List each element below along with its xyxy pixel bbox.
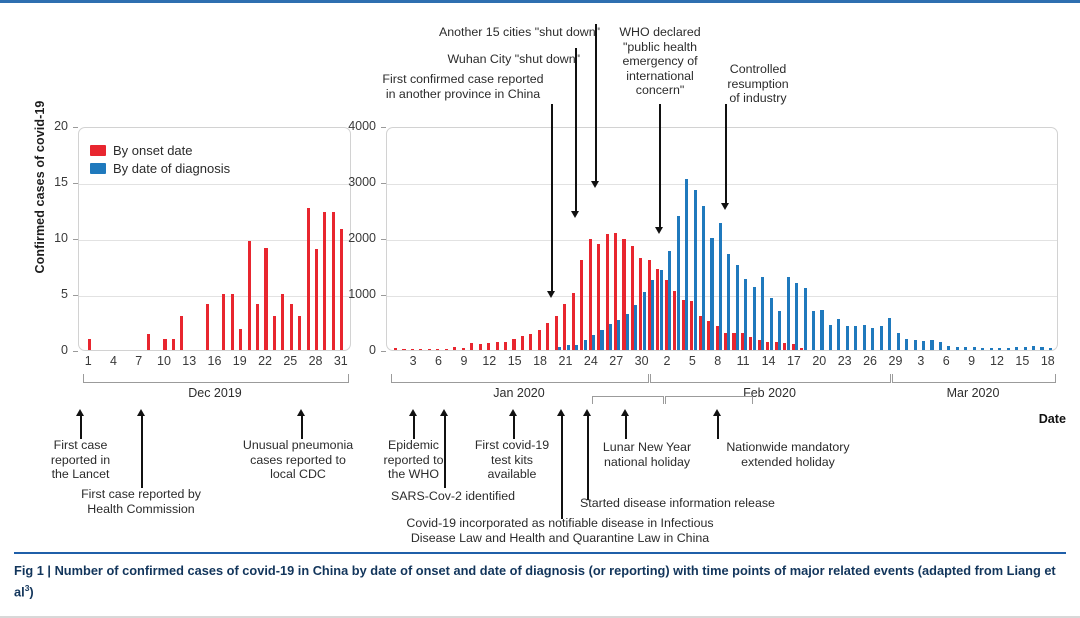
x-tick-label: 9 [959,354,985,368]
bar [163,339,166,350]
bar [922,341,925,350]
bracket-feb-2020 [650,374,891,383]
x-tick-label: 18 [1035,354,1061,368]
y-tick-label: 2000 [316,231,376,245]
bar [1024,347,1027,350]
x-tick-label: 16 [202,354,228,368]
legend-label-diagnosis: By date of diagnosis [113,161,230,176]
bar [1032,346,1035,350]
bar [1007,348,1010,350]
bar [930,340,933,350]
anno-first-test-kits: First covid-19 test kits available [462,438,562,482]
y-tick-label: 0 [8,343,68,357]
bar [880,326,883,350]
bar [854,326,857,350]
anno-15-cities-shutdown: Another 15 cities "shut down" [352,25,600,40]
bar [973,347,976,350]
bar [1049,348,1052,350]
x-tick-label: 25 [277,354,303,368]
bar [572,293,575,350]
legend-label-onset: By onset date [113,143,193,158]
bar [546,323,549,350]
x-tick-label: 4 [100,354,126,368]
bar [567,345,570,350]
bar [736,265,739,350]
bar [592,335,595,350]
anno-line: emergency of [604,54,716,69]
x-tick-label: 6 [933,354,959,368]
anno-line: First case reported by [60,487,222,502]
bar [584,340,587,350]
x-tick-label: 10 [151,354,177,368]
bar [172,339,175,350]
caption-prefix: Fig 1 | [14,563,55,578]
anno-wuhan-shutdown: Wuhan City "shut down" [352,52,580,67]
anno-line: the Lancet [28,467,133,482]
bar [428,349,431,351]
bar [753,287,756,350]
bar [956,347,959,350]
anno-unusual-pneumonia-cdc: Unusual pneumonia cases reported to loca… [218,438,378,482]
bar [273,316,276,350]
x-tick-label: 20 [806,354,832,368]
caption-divider [14,552,1066,554]
bar [770,298,773,350]
bar [462,348,465,350]
bar [239,329,242,350]
bar [600,330,603,350]
jan-mar-2020-plot-panel [386,127,1058,351]
anno-line: First confirmed case reported [352,72,574,87]
x-tick-label: 9 [451,354,477,368]
bar [394,348,397,350]
anno-epidemic-reported-who: Epidemic reported to the WHO [366,438,461,482]
x-tick-label: 27 [603,354,629,368]
bar [905,339,908,350]
bar [470,343,473,350]
bar [939,342,942,350]
legend-swatch-diagnosis [90,163,106,174]
bar [888,318,891,350]
anno-line: Health Commission [60,502,222,517]
bar [812,311,815,350]
bar [837,319,840,350]
y-tick-mark [73,127,78,128]
anno-line: Lunar New Year [588,440,706,455]
bar [710,238,713,350]
anno-line: Covid-19 incorporated as notifiable dise… [300,516,820,531]
y-tick-mark [381,351,386,352]
x-tick-label: 5 [679,354,705,368]
x-tick-label: 14 [756,354,782,368]
bar [88,339,91,350]
bar [998,348,1001,350]
bar [685,179,688,350]
y-tick-label: 0 [316,343,376,357]
legend: By onset date By date of diagnosis [90,141,230,177]
bar [206,304,209,350]
bar [820,310,823,350]
bar [147,334,150,350]
bar [589,239,592,350]
bar [512,339,515,350]
anno-first-case-health-commission: First case reported by Health Commission [60,487,222,516]
figure-caption: Fig 1 | Number of confirmed cases of cov… [14,562,1062,600]
bar [411,349,414,351]
y-tick-label: 20 [8,119,68,133]
anno-controlled-resumption: Controlled resumption of industry [712,62,804,106]
month-label-mar-2020: Mar 2020 [892,386,1054,400]
bar [1015,347,1018,350]
bar [222,294,225,350]
anno-disease-info-release: Started disease information release [580,496,880,511]
anno-line: Another 15 cities "shut down" [352,25,600,40]
bar [504,342,507,350]
anno-line: extended holiday [708,455,868,470]
anno-line: Nationwide mandatory [708,440,868,455]
bar [947,346,950,350]
bar [496,342,499,350]
y-tick-mark [381,239,386,240]
anno-who-pheic: WHO declared "public health emergency of… [604,25,716,98]
anno-line: Started disease information release [580,496,880,511]
bar [719,223,722,350]
bar [863,325,866,350]
legend-item-onset: By onset date [90,141,230,159]
anno-first-confirmed-other-province: First confirmed case reported in another… [352,72,574,101]
bar [529,334,532,350]
anno-line: cases reported to [218,453,378,468]
x-tick-label: 21 [552,354,578,368]
anno-line: local CDC [218,467,378,482]
x-tick-label: 30 [629,354,655,368]
bar [231,294,234,350]
anno-line: Epidemic [366,438,461,453]
x-tick-label: 13 [176,354,202,368]
x-tick-label: 3 [908,354,934,368]
bar [402,349,405,351]
x-tick-label: 15 [1009,354,1035,368]
bar [487,343,490,350]
top-rule [0,0,1080,3]
bar [778,311,781,350]
bar [787,277,790,350]
x-tick-label: 7 [126,354,152,368]
y-tick-label: 15 [8,175,68,189]
anno-line: Controlled [712,62,804,77]
y-tick-label: 4000 [316,119,376,133]
bar [846,326,849,350]
bar [677,216,680,350]
bar [281,294,284,350]
caption-text: Number of confirmed cases of covid-19 in… [14,563,1056,599]
bar [248,241,251,350]
bracket-jan-2020 [391,374,649,383]
month-label-dec-2019: Dec 2019 [83,386,347,400]
anno-line: Disease Law and Health and Quarantine La… [300,531,820,546]
bar [829,325,832,350]
anno-line: Wuhan City "shut down" [352,52,580,67]
y-tick-mark [381,183,386,184]
x-tick-label: 12 [476,354,502,368]
x-tick-label: 26 [857,354,883,368]
x-axis-label: Date [1039,412,1066,426]
bar [727,254,730,350]
x-tick-label: 2 [654,354,680,368]
bar [964,347,967,350]
bar [634,305,637,350]
bar [702,206,705,350]
bar [981,348,984,350]
y-tick-mark [381,127,386,128]
bar [436,349,439,351]
bar [643,292,646,350]
anno-sars-cov-2-identified: SARS-Cov-2 identified [310,489,515,504]
x-tick-label: 24 [578,354,604,368]
y-tick-label: 3000 [316,175,376,189]
bar [264,248,267,350]
anno-lunar-new-year: Lunar New Year national holiday [588,440,706,469]
x-tick-label: 6 [426,354,452,368]
bar [445,349,448,351]
bar [555,316,558,350]
bracket-dec-2019 [83,374,349,383]
bar [660,270,663,350]
anno-line: First covid-19 [462,438,562,453]
x-tick-label: 22 [252,354,278,368]
anno-line: national holiday [588,455,706,470]
y-tick-mark [73,351,78,352]
bracket-mar-2020 [892,374,1056,383]
bracket-lunar-new-year [592,396,664,404]
y-tick-mark [73,239,78,240]
x-tick-label: 17 [781,354,807,368]
x-tick-label: 1 [75,354,101,368]
bar [558,347,561,350]
bar [651,280,654,350]
bar [871,328,874,350]
anno-line: in another province in China [352,87,574,102]
y-tick-mark [381,295,386,296]
x-tick-label: 3 [400,354,426,368]
bar [609,324,612,350]
bar [290,304,293,350]
caption-suffix: ) [29,584,33,599]
x-tick-label: 29 [882,354,908,368]
anno-extended-holiday: Nationwide mandatory extended holiday [708,440,868,469]
anno-line: the WHO [366,467,461,482]
bar [804,288,807,350]
bar [419,349,422,351]
bar [180,316,183,350]
bar [521,336,524,350]
bracket-extended-holiday [665,396,753,404]
bar [453,347,456,350]
figure-container: Confirmed cases of covid-19 05101520 147… [0,0,1080,618]
bar [538,330,541,350]
bar [694,190,697,350]
x-tick-label: 15 [502,354,528,368]
x-tick-label: 11 [730,354,756,368]
anno-line: reported in [28,453,133,468]
bar [914,340,917,350]
anno-line: WHO declared [604,25,716,40]
anno-line: SARS-Cov-2 identified [310,489,515,504]
x-tick-label: 12 [984,354,1010,368]
bar [563,304,566,350]
bar [744,279,747,350]
anno-notifiable-disease: Covid-19 incorporated as notifiable dise… [300,516,820,545]
anno-line: test kits [462,453,562,468]
bar [990,348,993,350]
bar [1040,347,1043,350]
y-tick-label: 10 [8,231,68,245]
bar [479,344,482,350]
anno-line: First case [28,438,133,453]
y-tick-label: 5 [8,287,68,301]
x-tick-label: 8 [705,354,731,368]
anno-line: reported to [366,453,461,468]
anno-line: Unusual pneumonia [218,438,378,453]
y-tick-mark [73,183,78,184]
anno-line: available [462,467,562,482]
anno-line: "public health [604,40,716,55]
anno-line: international [604,69,716,84]
anno-first-case-lancet: First case reported in the Lancet [28,438,133,482]
y-tick-mark [73,295,78,296]
legend-swatch-onset [90,145,106,156]
bar [617,320,620,350]
bar [580,260,583,350]
x-tick-label: 23 [832,354,858,368]
y-tick-label: 1000 [316,287,376,301]
anno-line: resumption [712,77,804,92]
bar [668,251,671,350]
bar [575,345,578,350]
bar [897,333,900,350]
legend-item-diagnosis: By date of diagnosis [90,159,230,177]
x-tick-label: 19 [227,354,253,368]
jan-mar-2020-bars [387,128,1057,350]
bar [307,208,310,350]
bar [761,277,764,350]
bar [795,283,798,350]
x-tick-label: 18 [527,354,553,368]
anno-line: concern" [604,83,716,98]
bar [626,314,629,350]
bar [256,304,259,350]
bar [298,316,301,350]
